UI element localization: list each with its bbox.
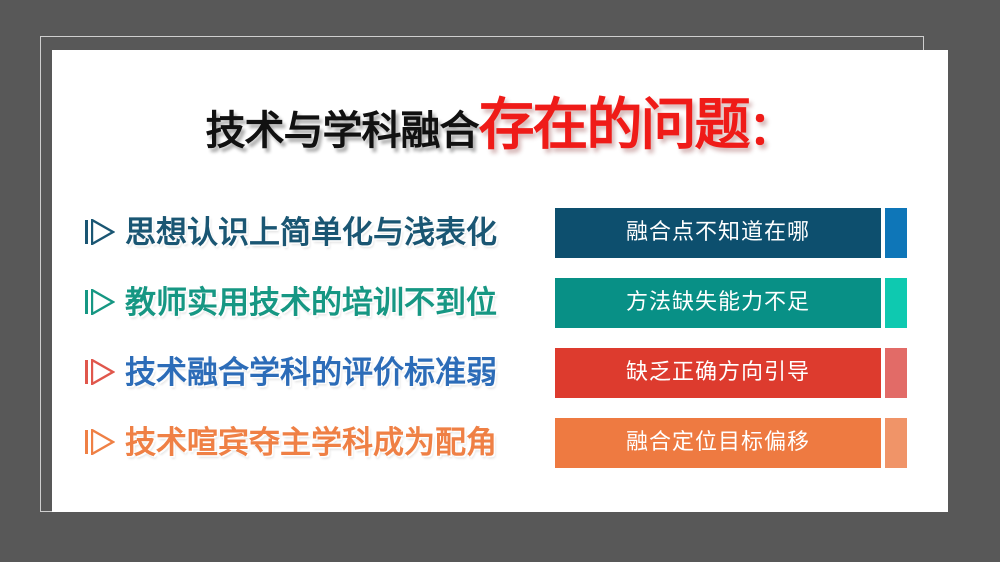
page-title: 技术与学科融合存在的问题： (52, 98, 948, 154)
list-item-panel: 缺乏正确方向引导 (555, 348, 881, 398)
list-item-panel: 方法缺失能力不足 (555, 278, 881, 328)
title-accent-text: 存在的问题 (479, 93, 749, 158)
list-item-label: 技术融合学科的评价标准弱 (125, 351, 497, 395)
panel-accent-bar (885, 348, 907, 398)
title-main-text: 技术与学科融合 (206, 108, 479, 154)
problem-list: 思想认识上简单化与浅表化 融合点不知道在哪 教师实用技术的培训不到位 方法缺失能… (52, 205, 948, 485)
list-item-label: 技术喧宾夺主学科成为配角 (125, 421, 497, 465)
list-item-panel: 融合点不知道在哪 (555, 208, 881, 258)
triangle-right-icon (85, 427, 115, 457)
list-item-label: 思想认识上简单化与浅表化 (125, 211, 497, 255)
slide-outer-frame: 技术与学科融合存在的问题： 思想认识上简单化与浅表化 融合点不知道在哪 (0, 0, 1000, 562)
list-item: 教师实用技术的培训不到位 方法缺失能力不足 (52, 275, 948, 331)
triangle-right-icon (85, 287, 115, 317)
triangle-right-icon (85, 357, 115, 387)
list-item: 思想认识上简单化与浅表化 融合点不知道在哪 (52, 205, 948, 261)
panel-accent-bar (885, 278, 907, 328)
list-item-panel: 融合定位目标偏移 (555, 418, 881, 468)
list-item: 技术喧宾夺主学科成为配角 融合定位目标偏移 (52, 415, 948, 471)
panel-accent-bar (885, 208, 907, 258)
title-colon: ： (749, 101, 795, 155)
list-item: 技术融合学科的评价标准弱 缺乏正确方向引导 (52, 345, 948, 401)
slide-canvas: 技术与学科融合存在的问题： 思想认识上简单化与浅表化 融合点不知道在哪 (52, 50, 948, 512)
list-item-label: 教师实用技术的培训不到位 (125, 281, 497, 325)
panel-accent-bar (885, 418, 907, 468)
triangle-right-icon (85, 217, 115, 247)
